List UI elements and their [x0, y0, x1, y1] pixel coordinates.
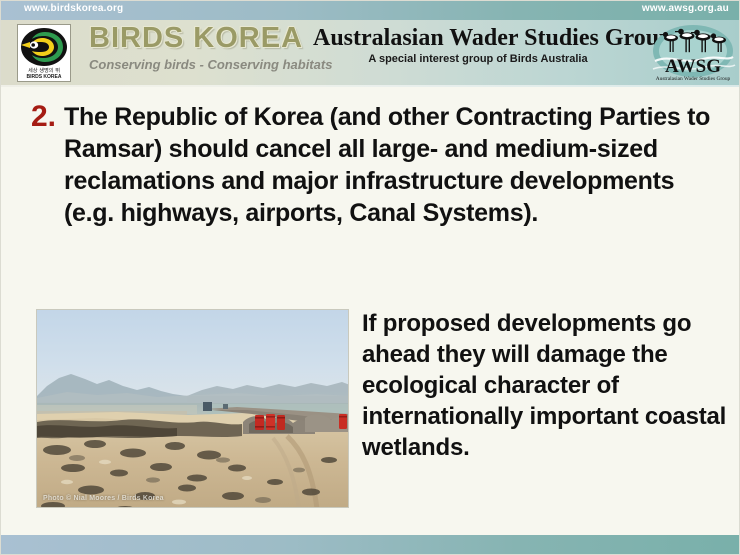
awsg-title: Australasian Wader Studies Group: [313, 25, 643, 52]
svg-text:BIRDS KOREA: BIRDS KOREA: [26, 74, 61, 80]
svg-text:AWSG: AWSG: [665, 56, 721, 77]
bottom-bar: [1, 535, 740, 554]
birds-korea-tagline: Conserving birds - Conserving habitats: [89, 57, 332, 72]
svg-text:Australasian Wader Studies Gro: Australasian Wader Studies Group: [656, 76, 731, 82]
photo-image: [37, 310, 349, 508]
birds-korea-logo-icon: 세상 생명의 뛰 BIRDS KOREA: [17, 24, 71, 82]
bullet-number: 2.: [31, 101, 64, 133]
presentation-slide: www.birdskorea.org www.awsg.org.au 세상 생명…: [0, 0, 740, 555]
birdskorea-url-label: www.birdskorea.org: [24, 3, 123, 14]
awsg-subtitle: A special interest group of Birds Austra…: [313, 53, 643, 65]
side-text: If proposed developments go ahead they w…: [362, 308, 736, 463]
bullet-block: 2. The Republic of Korea (and other Cont…: [31, 101, 721, 229]
awsg-url-label: www.awsg.org.au: [642, 3, 729, 14]
bullet-row: 2. The Republic of Korea (and other Cont…: [31, 101, 721, 229]
header-band: 세상 생명의 뛰 BIRDS KOREA BIRDS KOREA Conserv…: [1, 20, 740, 87]
reclamation-photo: Photo © Nial Moores / Birds Korea: [36, 309, 349, 508]
bullet-text: The Republic of Korea (and other Contrac…: [64, 101, 721, 229]
svg-text:세상 생명의 뛰: 세상 생명의 뛰: [28, 66, 60, 74]
birds-korea-wordmark: BIRDS KOREA: [89, 22, 303, 55]
photo-credit-caption: Photo © Nial Moores / Birds Korea: [43, 495, 164, 502]
top-url-bar: www.birdskorea.org www.awsg.org.au: [1, 1, 740, 20]
awsg-logo-icon: AWSG Australasian Wader Studies Group: [649, 21, 737, 85]
